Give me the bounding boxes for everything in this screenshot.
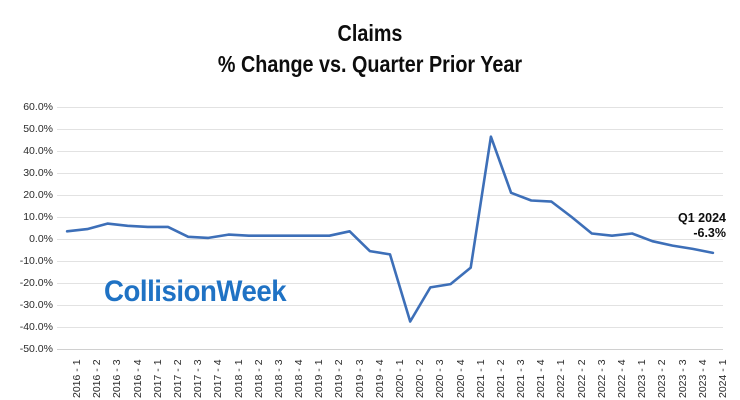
last-point-callout: Q1 2024 -6.3% <box>678 211 726 241</box>
x-axis-tick-label: 2016 - 4 <box>132 359 144 398</box>
x-axis-tick-label: 2018 - 1 <box>233 359 245 398</box>
x-axis-tick-label: 2019 - 1 <box>313 359 325 398</box>
y-axis-tick-label: 60.0% <box>1 102 53 112</box>
chart-subtitle: % Change vs. Quarter Prior Year <box>52 48 688 80</box>
x-axis-tick-label: 2017 - 4 <box>212 359 224 398</box>
x-axis-tick-label: 2022 - 1 <box>555 359 567 398</box>
x-axis-tick-label: 2020 - 3 <box>434 359 446 398</box>
watermark-collisionweek: CollisionWeek <box>104 276 286 308</box>
x-axis-tick-label: 2021 - 3 <box>515 359 527 398</box>
x-axis-tick-label: 2021 - 2 <box>495 359 507 398</box>
x-axis-tick-label: 2016 - 3 <box>111 359 123 398</box>
y-axis-tick-label: 30.0% <box>1 168 53 178</box>
chart-container: Claims % Change vs. Quarter Prior Year 6… <box>0 0 740 400</box>
x-axis-tick-label: 2023 - 4 <box>697 359 709 398</box>
y-axis-tick-label: -40.0% <box>1 322 53 332</box>
x-axis-tick-label: 2023 - 3 <box>677 359 689 398</box>
plot-area <box>57 107 723 349</box>
x-axis-tick-label: 2022 - 4 <box>616 359 628 398</box>
chart-title: Claims <box>52 18 688 48</box>
y-axis-tick-label: 40.0% <box>1 146 53 156</box>
y-axis-tick-label: 0.0% <box>1 234 53 244</box>
callout-value: -6.3% <box>678 226 726 241</box>
x-axis-tick-label: 2022 - 3 <box>596 359 608 398</box>
x-axis-tick-label: 2016 - 1 <box>71 359 83 398</box>
x-axis-tick-label: 2020 - 2 <box>414 359 426 398</box>
chart-title-block: Claims % Change vs. Quarter Prior Year <box>0 18 740 80</box>
y-axis-tick-label: 20.0% <box>1 190 53 200</box>
x-axis: 2016 - 12016 - 22016 - 32016 - 42017 - 1… <box>57 352 723 400</box>
x-axis-tick-label: 2019 - 4 <box>374 359 386 398</box>
y-axis-tick-label: -50.0% <box>1 344 53 354</box>
callout-label: Q1 2024 <box>678 211 726 226</box>
x-axis-tick-label: 2017 - 2 <box>172 359 184 398</box>
x-axis-tick-label: 2020 - 4 <box>455 359 467 398</box>
claims-series-line <box>57 107 723 349</box>
y-axis-tick-label: 10.0% <box>1 212 53 222</box>
x-axis-tick-label: 2024 - 1 <box>717 359 729 398</box>
x-axis-tick-label: 2023 - 1 <box>636 359 648 398</box>
x-axis-tick-label: 2021 - 1 <box>475 359 487 398</box>
x-axis-tick-label: 2021 - 4 <box>535 359 547 398</box>
y-axis-tick-label: -10.0% <box>1 256 53 266</box>
y-axis: 60.0%50.0%40.0%30.0%20.0%10.0%0.0%-10.0%… <box>0 107 53 349</box>
x-axis-tick-label: 2017 - 3 <box>192 359 204 398</box>
x-axis-tick-label: 2019 - 2 <box>333 359 345 398</box>
x-axis-tick-label: 2019 - 3 <box>354 359 366 398</box>
x-axis-tick-label: 2018 - 4 <box>293 359 305 398</box>
y-axis-tick-label: 50.0% <box>1 124 53 134</box>
y-axis-tick-label: -30.0% <box>1 300 53 310</box>
x-axis-tick-label: 2018 - 2 <box>253 359 265 398</box>
x-axis-tick-label: 2018 - 3 <box>273 359 285 398</box>
x-axis-tick-label: 2016 - 2 <box>91 359 103 398</box>
y-axis-tick-label: -20.0% <box>1 278 53 288</box>
x-axis-tick-label: 2020 - 1 <box>394 359 406 398</box>
gridline <box>57 349 723 350</box>
x-axis-tick-label: 2022 - 2 <box>576 359 588 398</box>
x-axis-tick-label: 2023 - 2 <box>656 359 668 398</box>
x-axis-tick-label: 2017 - 1 <box>152 359 164 398</box>
